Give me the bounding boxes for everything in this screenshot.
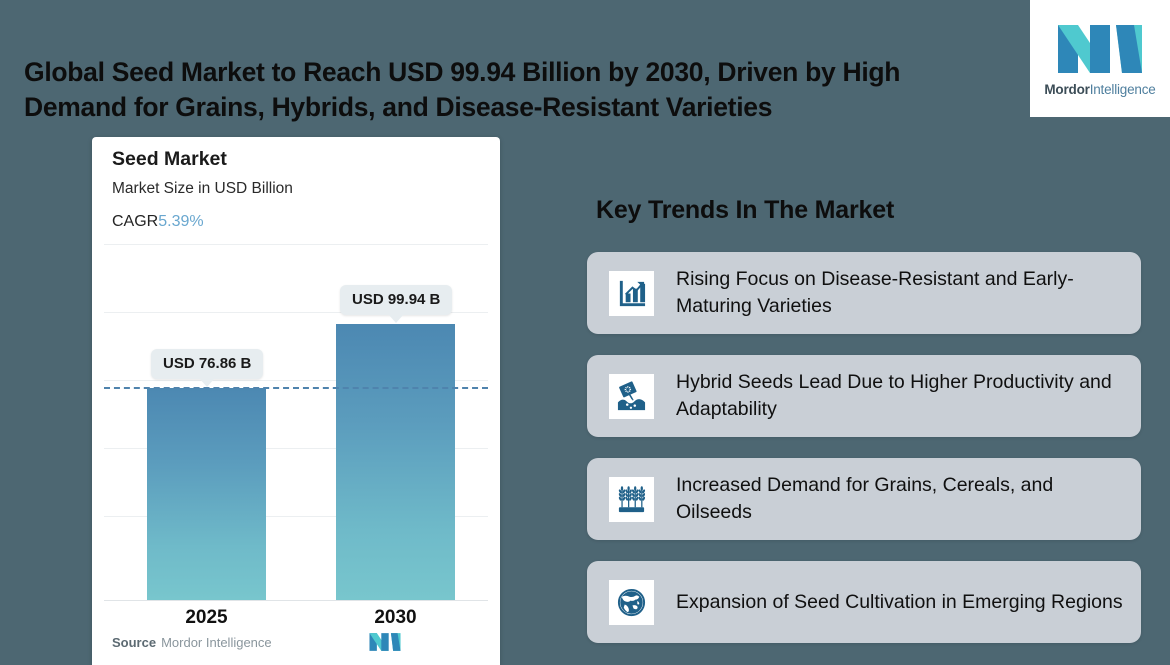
page-headline: Global Seed Market to Reach USD 99.94 Bi… (24, 55, 1009, 125)
x-axis-label-2030: 2030 (336, 607, 455, 629)
trend-text: Rising Focus on Disease-Resistant and Ea… (676, 266, 1123, 319)
source-logo-mark (368, 631, 402, 653)
trend-card-hybrid-seeds[interactable]: Hybrid Seeds Lead Due to Higher Producti… (587, 355, 1141, 437)
value-label-2025: USD 76.86 B (151, 349, 263, 379)
trend-card-disease-resistant[interactable]: Rising Focus on Disease-Resistant and Ea… (587, 252, 1141, 334)
value-label-2030: USD 99.94 B (340, 285, 452, 315)
bar-2030 (336, 324, 455, 600)
cagr-value: 5.39% (158, 213, 203, 230)
chart-title: Seed Market (112, 148, 227, 171)
trend-text: Hybrid Seeds Lead Due to Higher Producti… (676, 369, 1123, 422)
source-label: Source (112, 635, 156, 650)
globe-icon (609, 580, 654, 625)
chart-plot-area: USD 76.86 B USD 99.94 B 2025 2030 (104, 244, 488, 601)
trend-card-emerging-regions[interactable]: Expansion of Seed Cultivation in Emergin… (587, 561, 1141, 643)
brand-logo-panel: MordorIntelligence (1030, 0, 1170, 117)
bar-chart-growth-icon (609, 271, 654, 316)
x-axis-label-2025: 2025 (147, 607, 266, 629)
seed-sowing-icon (609, 374, 654, 419)
axis-baseline (104, 600, 488, 601)
logo-word-intelligence: Intelligence (1090, 82, 1156, 97)
key-trends-list: Rising Focus on Disease-Resistant and Ea… (587, 252, 1141, 664)
wheat-stalks-icon (609, 477, 654, 522)
source-value: Mordor Intelligence (161, 635, 272, 650)
gridline (104, 244, 488, 245)
key-trends-heading: Key Trends In The Market (596, 196, 894, 225)
seed-market-chart-card: Seed Market Market Size in USD Billion C… (92, 137, 500, 665)
mordor-logo-mark (1054, 21, 1146, 77)
chart-source-row: Source Mordor Intelligence (112, 631, 480, 653)
cagr-label: CAGR (112, 213, 158, 230)
chart-subtitle: Market Size in USD Billion (112, 180, 293, 198)
logo-word-mordor: Mordor (1044, 82, 1089, 97)
trend-text: Increased Demand for Grains, Cereals, an… (676, 472, 1123, 525)
trend-card-grains-demand[interactable]: Increased Demand for Grains, Cereals, an… (587, 458, 1141, 540)
reference-dashed-line (104, 387, 488, 389)
logo-wordmark: MordorIntelligence (1044, 82, 1155, 97)
bar-2025 (147, 388, 266, 600)
trend-text: Expansion of Seed Cultivation in Emergin… (676, 589, 1123, 616)
chart-cagr: CAGR5.39% (112, 213, 204, 231)
